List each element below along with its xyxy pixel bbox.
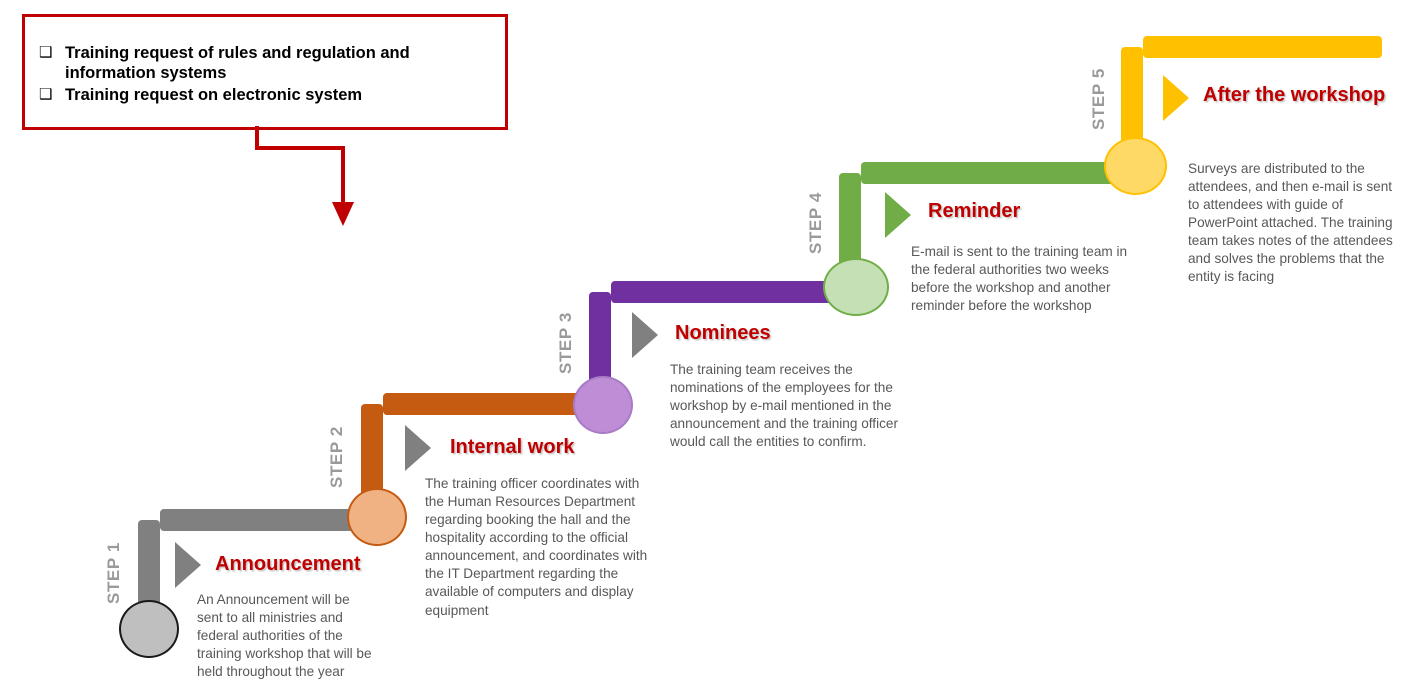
step-2-horizontal-bar: [383, 393, 600, 415]
step-1-label: STEP 1: [104, 542, 124, 604]
step-3-body: The training team receives the nominatio…: [670, 361, 902, 451]
callout-list: ❑ Training request of rules and regulati…: [39, 43, 495, 107]
callout-item-text: Training request on electronic system: [65, 85, 495, 105]
step-5-body: Surveys are distributed to the attendees…: [1188, 160, 1396, 287]
step-1-body: An Announcement will be sent to all mini…: [197, 591, 377, 681]
step-2-title: Internal work: [450, 436, 574, 459]
step-4-title: Reminder: [928, 200, 1020, 223]
step-4-body: E-mail is sent to the training team in t…: [911, 243, 1138, 315]
step-3-horizontal-bar: [611, 281, 837, 303]
step-1-horizontal-bar: [160, 509, 370, 531]
step-5-triangle-icon: [1163, 75, 1189, 121]
step-3-label: STEP 3: [556, 312, 576, 374]
list-item: ❑ Training request of rules and regulati…: [39, 43, 495, 83]
step-3-node-circle: [573, 376, 633, 434]
step-2-node-circle: [347, 488, 407, 546]
checkbox-bullet-icon: ❑: [39, 85, 65, 104]
step-5-node-circle: [1104, 137, 1167, 195]
step-1-node-circle: [119, 600, 179, 658]
step-4-triangle-icon: [885, 192, 911, 238]
checkbox-bullet-icon: ❑: [39, 43, 65, 62]
callout-item-text: Training request of rules and regulation…: [65, 43, 495, 83]
step-1-triangle-icon: [175, 542, 201, 588]
callout-box: ❑ Training request of rules and regulati…: [22, 14, 508, 130]
list-item: ❑ Training request on electronic system: [39, 85, 495, 105]
step-5-horizontal-bar: [1143, 36, 1382, 58]
step-3-triangle-icon: [632, 312, 658, 358]
process-diagram: ❑ Training request of rules and regulati…: [0, 0, 1419, 696]
step-4-label: STEP 4: [806, 192, 826, 254]
callout-connector-arrow: [230, 126, 390, 236]
step-2-triangle-icon: [405, 425, 431, 471]
step-2-label: STEP 2: [327, 426, 347, 488]
step-2-body: The training officer coordinates with th…: [425, 475, 653, 620]
step-3-title: Nominees: [675, 322, 771, 345]
step-1-title: Announcement: [215, 553, 361, 576]
step-4-horizontal-bar: [861, 162, 1119, 184]
step-5-title: After the workshop: [1203, 84, 1385, 107]
step-5-label: STEP 5: [1089, 68, 1109, 130]
step-4-node-circle: [823, 258, 889, 316]
